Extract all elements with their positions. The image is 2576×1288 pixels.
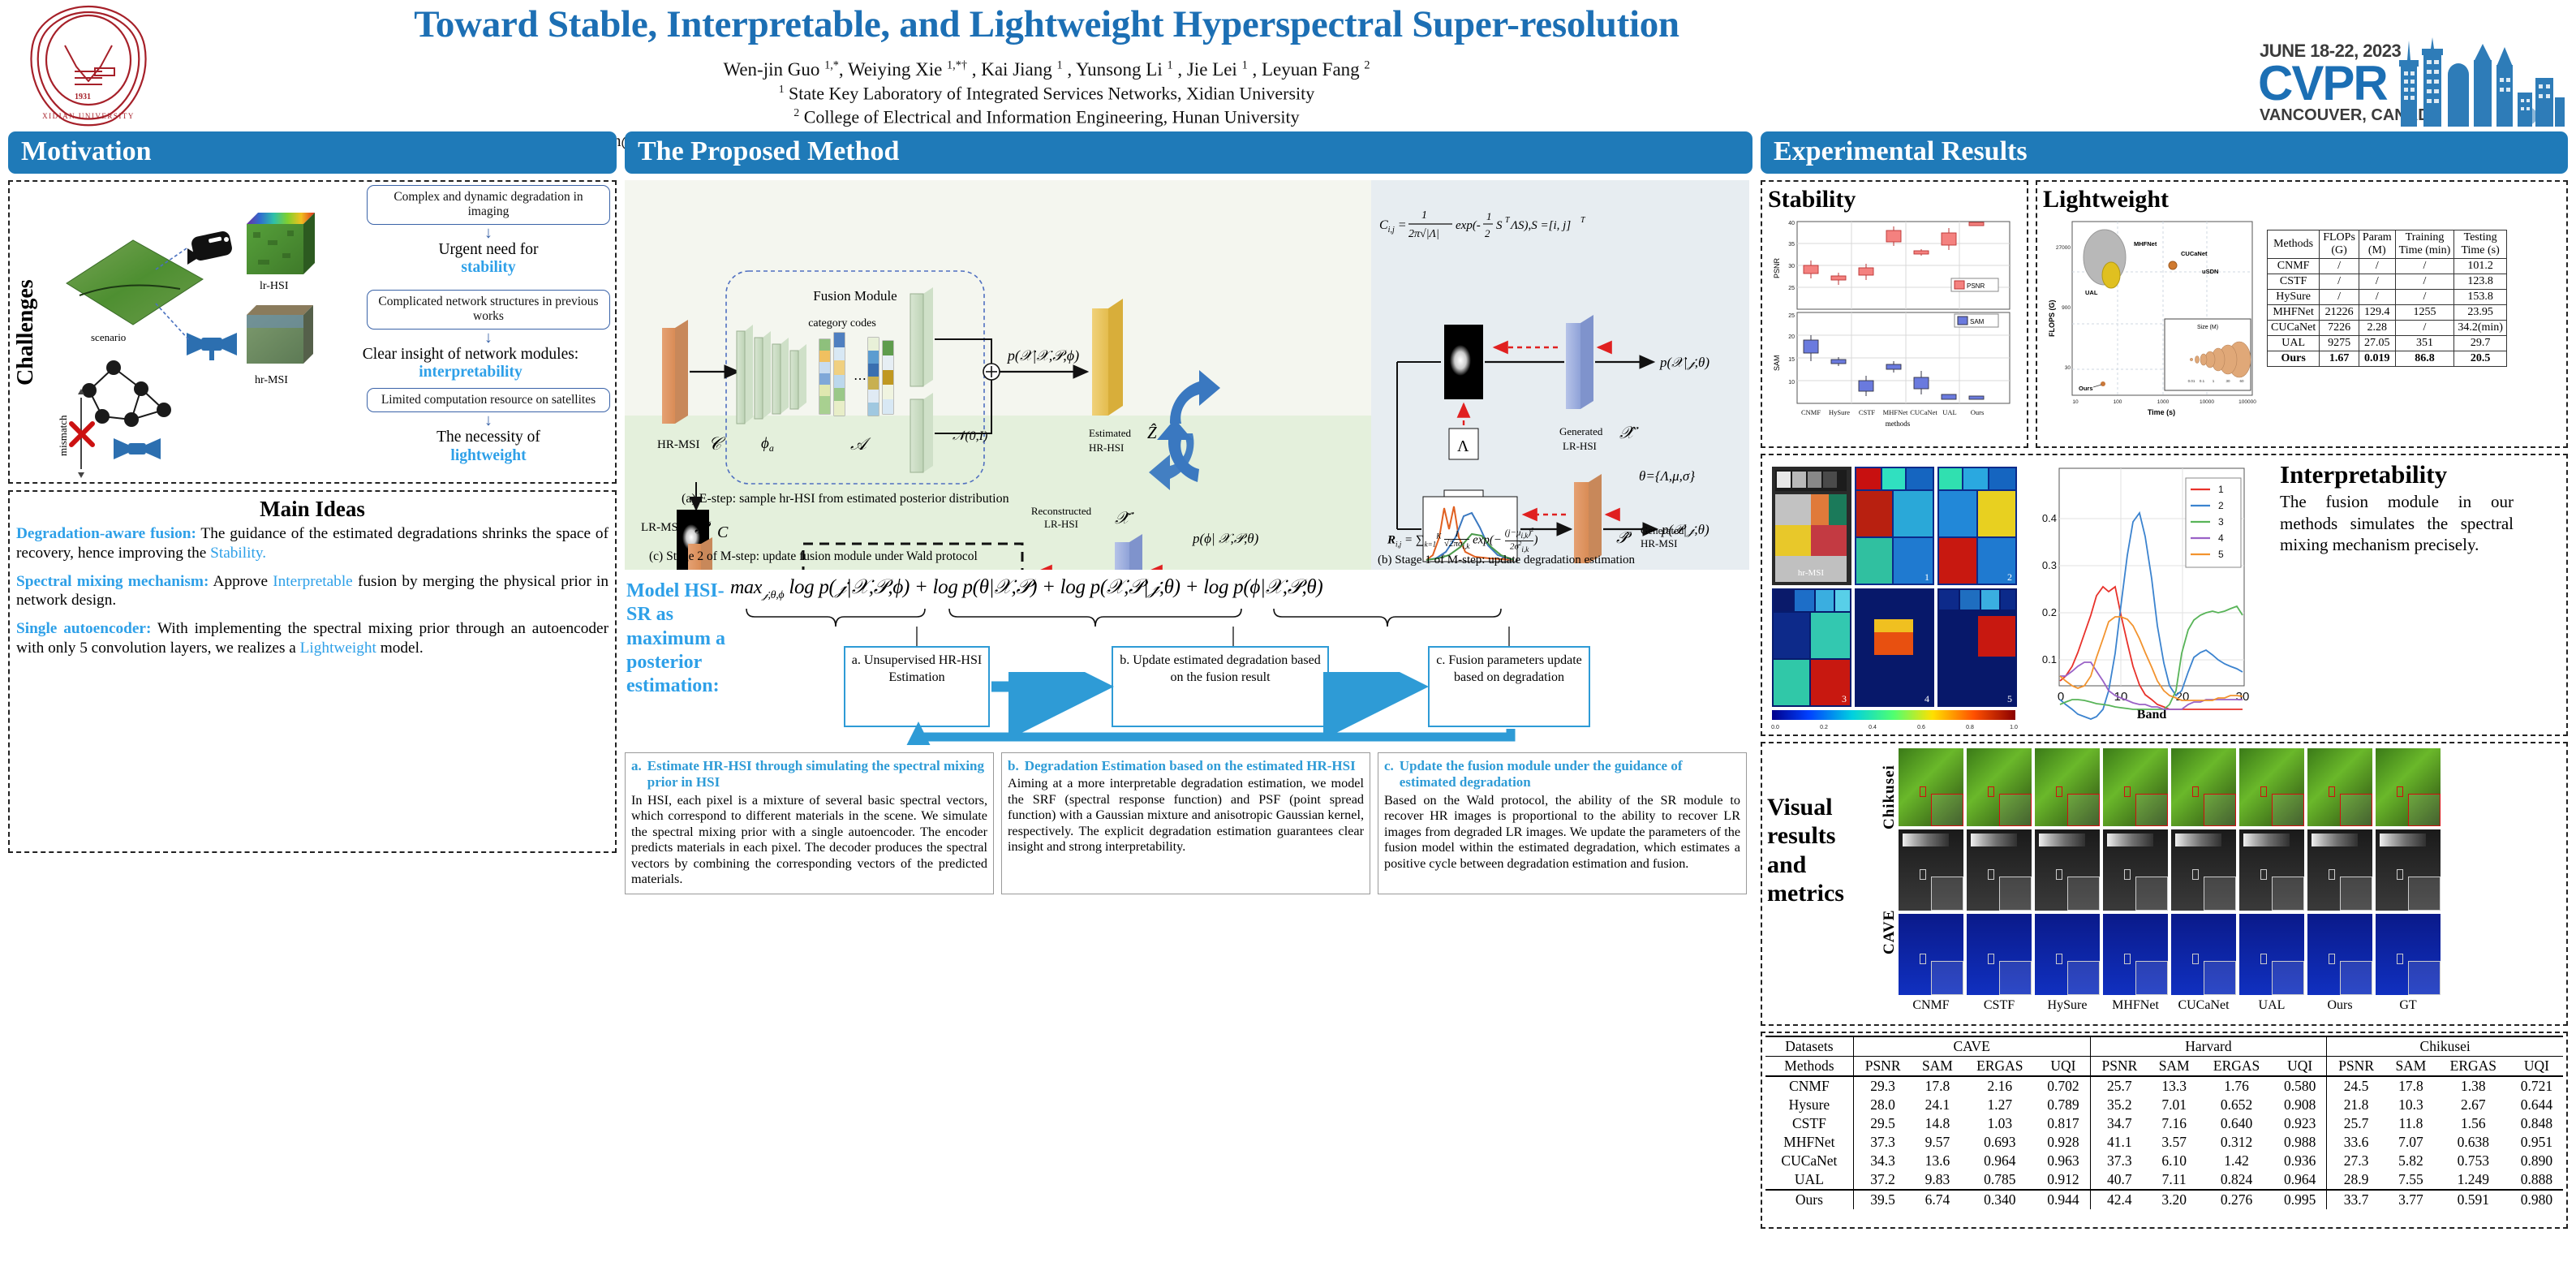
results-table-row: CUCaNet34.313.60.9640.96337.36.101.420.9…	[1765, 1152, 2563, 1170]
results-cell: 0.721	[2510, 1076, 2563, 1096]
results-cell: 33.6	[2327, 1133, 2385, 1152]
visual-results-column-labels: CNMFCSTFHySureMHFNetCUCaNetUALOursGT	[1899, 998, 2441, 1013]
lw-table-cell: 123.8	[2454, 274, 2507, 290]
roi-marker	[2260, 869, 2267, 880]
visual-result-image	[2239, 748, 2304, 826]
method-name-cell: CUCaNet	[1765, 1152, 1853, 1170]
results-cell: 0.312	[2200, 1133, 2273, 1152]
caption-plain-2: Clear insight of network modules:	[363, 346, 578, 363]
svg-text:Λ: Λ	[1457, 437, 1469, 455]
lw-table-cell: 0.019	[2359, 351, 2395, 367]
label-ual: UAL	[2085, 289, 2098, 296]
roi-marker	[1988, 869, 1994, 880]
label-mhfnet: MHFNet	[2134, 240, 2157, 248]
metric-header: ERGAS	[2436, 1057, 2510, 1077]
challenge-caption-3: The necessity of lightweight	[367, 429, 610, 464]
results-cell: 24.1	[1912, 1096, 1963, 1114]
results-cell: 0.964	[1963, 1152, 2036, 1170]
zoom-inset	[2067, 794, 2100, 826]
roi-marker	[1988, 786, 1994, 797]
svg-text:0.1: 0.1	[2042, 653, 2057, 666]
svg-text:30: 30	[2236, 690, 2250, 704]
svg-text:25: 25	[1788, 286, 1795, 291]
lw-table-cell: 153.8	[2454, 290, 2507, 305]
lw-table-cell: 20.5	[2454, 351, 2507, 367]
svg-text:1: 1	[1421, 209, 1427, 222]
model-equation-block: Model HSI-SR asmaximum aposteriorestimat…	[625, 575, 1752, 749]
results-cell: 37.2	[1853, 1170, 1912, 1190]
challenges-label: Challenges	[10, 182, 42, 484]
results-table-row: CNMF29.317.82.160.70225.713.31.760.58024…	[1765, 1076, 2563, 1096]
results-table-row: Hysure28.024.11.270.78935.27.010.6520.90…	[1765, 1096, 2563, 1114]
row-label-chikusei: Chikusei	[1881, 752, 1899, 829]
svg-text:35: 35	[1788, 242, 1795, 248]
caption-highlight-3: lightweight	[450, 447, 526, 464]
lr-msi-label: LR-MSI	[641, 521, 682, 535]
results-cell: 0.908	[2273, 1096, 2327, 1114]
lw-table-cell: 1.67	[2320, 351, 2359, 367]
zoom-inset	[1999, 794, 2032, 826]
arrow-down-icon-1: ↓	[367, 226, 610, 239]
visual-column-label: CNMF	[1899, 998, 1963, 1013]
main-ideas-panel: Main Ideas Degradation-aware fusion: The…	[8, 490, 617, 853]
visual-results-grid: CNMFCSTFHySureMHFNetCUCaNetUALOursGT	[1899, 748, 2441, 1019]
page-title: Toward Stable, Interpretable, and Lightw…	[162, 5, 1931, 45]
zoom-inset	[1931, 877, 1963, 911]
roi-marker	[2124, 786, 2131, 797]
method-box-a: a. Estimate HR-HSI through simulating th…	[625, 752, 994, 894]
results-cell: 0.644	[2510, 1096, 2563, 1114]
authors-line: Wen-jin Guo 1,*, Weiying Xie 1,*† , Kai …	[162, 58, 1931, 81]
svg-text:10: 10	[1788, 380, 1795, 386]
results-cell: 33.7	[2327, 1190, 2385, 1209]
lightweight-bubble-chart: 2700090030 FLOPS (G) 10100 1000100001000…	[2043, 215, 2260, 433]
results-cell: 17.8	[1912, 1076, 1963, 1096]
p-phi-label: p(ϕ| 𝒳,𝒫,θ)	[1193, 531, 1258, 547]
visual-results-row	[1899, 748, 2441, 826]
svg-text:0.8: 0.8	[1966, 725, 1974, 730]
lw-table-cell: 86.8	[2395, 351, 2454, 367]
method-box-b-marker: b.	[1008, 758, 1019, 774]
svg-text:CNMF: CNMF	[1801, 408, 1821, 416]
generated-label-b1: Generated	[1559, 425, 1603, 437]
caption-highlight-2: interpretability	[419, 364, 522, 381]
equation-r: Ri,j = ∑k=1K 1√2πσi,k exp(− (j−μi,k)22σ2…	[1387, 528, 1537, 554]
interpretability-panel: hr-MSI 1	[1761, 454, 2568, 736]
results-cell: 1.42	[2200, 1152, 2273, 1170]
lightweight-title: Lightweight	[2043, 186, 2561, 213]
lw-table-cell: 7226	[2320, 321, 2359, 336]
decoder-top	[910, 287, 933, 386]
roi-marker	[2192, 869, 2199, 880]
lw-table-cell: CNMF	[2268, 259, 2320, 274]
results-cell: 17.8	[2385, 1076, 2436, 1096]
lw-table-cell: /	[2395, 259, 2454, 274]
zoom-inset	[2135, 877, 2168, 911]
method-box-c: c. Update the fusion module under the gu…	[1378, 752, 1747, 894]
bubble-ual	[2102, 262, 2120, 288]
svg-text:T: T	[1505, 216, 1511, 225]
zoom-inset	[2340, 961, 2372, 995]
interpretability-title: Interpretability	[2280, 460, 2514, 489]
cvpr-logo: JUNE 18-22, 2023 CVPR VANCOUVER, CANADA	[2258, 29, 2566, 127]
svg-text:1: 1	[1486, 210, 1492, 222]
results-cell: 1.38	[2436, 1076, 2510, 1096]
stability-x-axis-label: methods	[1886, 420, 1911, 428]
svg-text:2: 2	[1485, 227, 1490, 239]
svg-text:⋯: ⋯	[854, 373, 867, 386]
stability-panel: Stability 4035 3025 PSNR	[1761, 180, 2028, 448]
visual-results-panel: Visualresultsandmetrics Chikusei CAVE CN…	[1761, 742, 2568, 1026]
svg-text:60: 60	[2239, 379, 2244, 383]
svg-text:3: 3	[2218, 516, 2224, 528]
c-label: C	[717, 523, 729, 541]
results-cell: 14.8	[1912, 1114, 1963, 1133]
encoder-layers	[737, 325, 806, 424]
method-name-cell: UAL	[1765, 1170, 1853, 1190]
colorchecker-patch	[2380, 834, 2427, 846]
table-header-row: Methods FLOPs(G) Param(M) TrainingTime (…	[2268, 230, 2507, 259]
colorbar	[1772, 710, 2015, 720]
lw-th-2: Param(M)	[2359, 230, 2395, 259]
method-box-a-body: In HSI, each pixel is a mixture of sever…	[631, 793, 987, 888]
results-cell: 28.0	[1853, 1096, 1912, 1114]
results-cell: 3.77	[2385, 1190, 2436, 1209]
main-idea-3-body-post: model.	[376, 640, 424, 657]
results-cell: 3.57	[2148, 1133, 2200, 1152]
psf-kernel-visual	[1444, 325, 1483, 399]
roi-marker	[2124, 869, 2131, 880]
svg-text:30: 30	[1788, 264, 1795, 269]
visual-result-image	[1899, 914, 1963, 995]
methods-header: Methods	[1765, 1057, 1853, 1077]
zoom-inset	[2408, 961, 2441, 995]
results-cell: 37.3	[1853, 1133, 1912, 1152]
dataset-harvard: Harvard	[2090, 1036, 2327, 1057]
roi-marker	[2192, 954, 2199, 964]
hr-msi-thumbnail: hr-MSI	[1772, 467, 1851, 585]
lw-table-cell: 29.7	[2454, 336, 2507, 351]
roi-marker	[2056, 954, 2062, 964]
main-idea-3: Single autoencoder: With implementing th…	[10, 619, 615, 657]
visual-result-image	[2307, 829, 2372, 911]
results-table-metric-header-row: MethodsPSNRSAMERGASUQIPSNRSAMERGASUQIPSN…	[1765, 1057, 2563, 1077]
abundance-map-1: 1	[1855, 467, 1934, 585]
svg-text:0.01: 0.01	[2188, 379, 2195, 383]
results-cell: 1.03	[1963, 1114, 2036, 1133]
zoom-inset	[1999, 961, 2032, 995]
method-box-b-head: Degradation Estimation based on the esti…	[1025, 758, 1356, 774]
stability-title: Stability	[1768, 186, 2021, 213]
normal-distribution-label: 𝒩(0,I)	[953, 429, 987, 443]
zoom-inset	[2067, 877, 2100, 911]
generated-lr-hsi-slab	[1566, 315, 1593, 409]
visual-column-label: MHFNet	[2103, 998, 2168, 1013]
roi-marker	[2397, 786, 2403, 797]
affiliation-2: 2 College of Electrical and Information …	[162, 106, 1931, 129]
hr-msi-symbol: 𝒞	[708, 433, 726, 454]
visual-result-image	[1967, 748, 2032, 826]
roi-marker	[2124, 954, 2131, 964]
results-table-dataset-header-row: Datasets CAVE Harvard Chikusei	[1765, 1036, 2563, 1057]
challenge-box-1: Complex and dynamic degradation in imagi…	[367, 185, 610, 225]
map-2-label: 2	[2007, 571, 2012, 583]
reconstructed-lr-hsi-slab	[1115, 534, 1142, 570]
results-cell: 0.824	[2200, 1170, 2273, 1190]
zoom-inset	[2067, 961, 2100, 995]
lw-table-cell: HySure	[2268, 290, 2320, 305]
results-cell: 28.9	[2327, 1170, 2385, 1190]
lw-table-row: MHFNet21226129.4125523.95	[2268, 305, 2507, 321]
visual-column-label: GT	[2376, 998, 2441, 1013]
lw-table-cell: CUCaNet	[2268, 321, 2320, 336]
svg-text:MHFNet: MHFNet	[1883, 408, 1908, 416]
scenario-diagram: scenario	[42, 182, 367, 482]
svg-text:900: 900	[2062, 305, 2071, 311]
lr-hsi-label: lr-HSI	[260, 280, 289, 292]
lw-table-cell: /	[2320, 274, 2359, 290]
main-idea-2-highlight: Interpretable	[273, 573, 353, 590]
results-cell: 25.7	[2090, 1076, 2148, 1096]
metric-header: PSNR	[2090, 1057, 2148, 1077]
visual-column-label: CUCaNet	[2171, 998, 2236, 1013]
metric-header: UQI	[2036, 1057, 2090, 1077]
lw-table-row: CNMF///101.2	[2268, 259, 2507, 274]
results-cell: 0.638	[2436, 1133, 2510, 1152]
roi-marker	[2329, 786, 2335, 797]
svg-text:30: 30	[2065, 365, 2071, 371]
svg-text:1.0: 1.0	[2010, 725, 2018, 730]
lr-msi-symbol: 𝒫̃	[695, 518, 707, 538]
results-cell: 0.944	[2036, 1190, 2090, 1209]
lw-th-3: TrainingTime (min)	[2395, 230, 2454, 259]
zoom-inset	[1931, 961, 1963, 995]
results-cell: 0.964	[2273, 1170, 2327, 1190]
method-box-b-body: Aiming at a more interpretable degradati…	[1008, 776, 1364, 855]
results-cell: 1.76	[2200, 1076, 2273, 1096]
visual-result-image	[1899, 748, 1963, 826]
metric-header: UQI	[2273, 1057, 2327, 1077]
estimated-label-2: HR-HSI	[1089, 442, 1124, 454]
lightweight-panel: Lightweight 2700090030 FLOPS	[2036, 180, 2568, 448]
affiliation-1: 1 State Key Laboratory of Integrated Ser…	[162, 82, 1931, 106]
roi-marker	[2397, 954, 2403, 964]
dataset-chikusei: Chikusei	[2327, 1036, 2563, 1057]
svg-text:0.0: 0.0	[1771, 725, 1779, 730]
results-cell: 5.82	[2385, 1152, 2436, 1170]
svg-text:HySure: HySure	[1829, 408, 1850, 416]
lw-table-cell: /	[2320, 259, 2359, 274]
challenges-flow: Complex and dynamic degradation in imagi…	[367, 182, 610, 484]
column-experimental-results: Experimental Results Stability 4035	[1761, 131, 2568, 1229]
lw-table-cell: /	[2359, 290, 2395, 305]
svg-text:0.4: 0.4	[2042, 512, 2057, 524]
svg-text:0.2: 0.2	[1820, 725, 1828, 730]
colorchecker-patch	[2107, 834, 2154, 846]
svg-text:T: T	[1580, 216, 1586, 225]
section-title-experimental-results: Experimental Results	[1761, 131, 2568, 174]
svg-text:0.6: 0.6	[1917, 725, 1925, 730]
map-5-label: 5	[2007, 693, 2012, 704]
step-flow-arrows	[625, 672, 1749, 745]
results-cell: 0.995	[2273, 1190, 2327, 1209]
lw-table-cell: /	[2320, 290, 2359, 305]
fusion-module-title: Fusion Module	[813, 288, 897, 304]
results-table: Datasets CAVE Harvard Chikusei MethodsPS…	[1765, 1036, 2563, 1209]
mismatch-indicator	[71, 389, 92, 478]
results-table-row: CSTF29.514.81.030.81734.77.160.6400.9232…	[1765, 1114, 2563, 1133]
visual-result-image	[2307, 914, 2372, 995]
results-table-panel: Datasets CAVE Harvard Chikusei MethodsPS…	[1761, 1032, 2568, 1229]
svg-text:20: 20	[2176, 690, 2190, 704]
main-idea-3-lead: Single autoencoder:	[16, 620, 151, 637]
results-cell: 13.3	[2148, 1076, 2200, 1096]
panel-b-caption: (b) Stage 1 of M-step: update degradatio…	[1378, 554, 1635, 566]
lw-th-0: Methods	[2268, 230, 2320, 259]
results-cell: 34.3	[1853, 1152, 1912, 1170]
colorchecker-patch	[2312, 834, 2359, 846]
bubble-cucanet	[2169, 261, 2177, 269]
zoom-inset	[2272, 877, 2304, 911]
generated-hr-msi-slab	[1574, 474, 1602, 563]
section-title-motivation: Motivation	[8, 131, 617, 174]
inset-size-label: Size (M)	[2197, 325, 2218, 330]
svg-text:0.1: 0.1	[2200, 379, 2205, 383]
zoom-inset	[2135, 794, 2168, 826]
zoom-inset	[2272, 961, 2304, 995]
lw-table-row: CSTF///123.8	[2268, 274, 2507, 290]
results-cell: 6.74	[1912, 1190, 1963, 1209]
svg-text:10000: 10000	[2200, 399, 2214, 405]
method-box-a-marker: a.	[631, 758, 642, 791]
lw-table-cell: 129.4	[2359, 305, 2395, 321]
svg-text:1000: 1000	[2157, 399, 2170, 405]
zoom-inset	[2408, 877, 2441, 911]
caption-plain-3: The necessity of	[437, 429, 540, 446]
results-cell: 35.2	[2090, 1096, 2148, 1114]
visual-result-image	[2376, 914, 2441, 995]
category-codes-label: category codes	[808, 317, 876, 330]
method-box-c-body: Based on the Wald protocol, the ability …	[1384, 793, 1740, 872]
svg-text:2: 2	[2218, 500, 2224, 511]
interpretability-body: The fusion module in our methods simulat…	[2280, 491, 2514, 555]
roi-marker	[2192, 786, 2199, 797]
visual-result-image	[2103, 748, 2168, 826]
svg-text:25: 25	[1788, 313, 1795, 319]
challenge-caption-1: Urgent need for stability	[367, 241, 610, 277]
visual-column-label: UAL	[2239, 998, 2304, 1013]
svg-text:CUCaNet: CUCaNet	[1910, 408, 1937, 416]
lw-table-row: HySure///153.8	[2268, 290, 2507, 305]
results-cell: 0.340	[1963, 1190, 2036, 1209]
equation-c: Ci,j =	[1379, 218, 1407, 235]
colorchecker-patch	[2039, 834, 2086, 846]
metric-header: ERGAS	[1963, 1057, 2036, 1077]
results-cell: 0.580	[2273, 1076, 2327, 1096]
abundance-map-4: 4	[1855, 588, 1934, 707]
dataset-cave: CAVE	[1853, 1036, 2090, 1057]
results-cell: 0.702	[2036, 1076, 2090, 1096]
visual-result-image	[2307, 748, 2372, 826]
lw-table-cell: /	[2359, 259, 2395, 274]
results-cell: 0.912	[2036, 1170, 2090, 1190]
main-idea-2-lead: Spectral mixing mechanism:	[16, 573, 209, 590]
roi-marker	[2260, 954, 2267, 964]
stability-boxplot-chart: 4035 3025 PSNR	[1768, 217, 2019, 436]
lw-table-cell: UAL	[2268, 336, 2320, 351]
visual-results-label: Visualresultsandmetrics	[1767, 748, 1881, 1019]
roi-marker	[2056, 869, 2062, 880]
results-cell: 7.07	[2385, 1133, 2436, 1152]
results-cell: 41.1	[2090, 1133, 2148, 1152]
reconstructed-lr-hsi-label: ReconstructedLR-HSI	[1013, 505, 1110, 530]
panel-a-caption: (a) E-step: sample hr-HSI from estimated…	[682, 492, 1009, 506]
metric-header: SAM	[1912, 1057, 1963, 1077]
results-cell: 1.56	[2436, 1114, 2510, 1133]
x-tilde-symbol: 𝒳̃	[1115, 508, 1129, 528]
main-ideas-title: Main Ideas	[10, 497, 615, 522]
lw-th-4: TestingTime (s)	[2454, 230, 2507, 259]
roi-marker	[2056, 786, 2062, 797]
em-cycle-arrows	[1149, 370, 1220, 490]
main-idea-1: Degradation-aware fusion: The guidance o…	[10, 524, 615, 562]
lw-table-cell: CSTF	[2268, 274, 2320, 290]
column-proposed-method: The Proposed Method	[625, 131, 1752, 894]
section-title-proposed-method: The Proposed Method	[625, 131, 1752, 174]
equation-c-fraction: 1 2π√|Λ| exp(- 1 2 S T ΛS),S =[i, j] T	[1408, 209, 1586, 240]
zoom-inset	[1999, 877, 2032, 911]
roi-marker	[1920, 786, 1926, 797]
label-cucanet: CUCaNet	[2181, 250, 2208, 257]
svg-text:100000: 100000	[2238, 399, 2256, 405]
lw-table-cell: 9275	[2320, 336, 2359, 351]
hr-msi-input-label: HR-MSI	[657, 438, 700, 451]
abundance-maps: hr-MSI 1	[1767, 460, 2027, 730]
lw-table-row: CUCaNet72262.28/34.2(min)	[2268, 321, 2507, 336]
metric-header: PSNR	[2327, 1057, 2385, 1077]
results-cell: 0.591	[2436, 1190, 2510, 1209]
metric-header: UQI	[2510, 1057, 2563, 1077]
visual-column-label: Ours	[2307, 998, 2372, 1013]
generated-label-b2: LR-HSI	[1563, 440, 1597, 452]
lw-table-cell: /	[2395, 274, 2454, 290]
roi-marker	[1988, 954, 1994, 964]
svg-text:CSTF: CSTF	[1859, 408, 1876, 416]
results-cell: 0.951	[2510, 1133, 2563, 1152]
results-cell: 6.10	[2148, 1152, 2200, 1170]
arrow-down-icon-3: ↓	[367, 414, 610, 427]
decoder-bottom	[910, 393, 933, 472]
scenario-label: scenario	[91, 331, 126, 343]
visual-result-image	[2376, 748, 2441, 826]
results-cell: 40.7	[2090, 1170, 2148, 1190]
lightweight-y-axis-label: FLOPS (G)	[2048, 300, 2056, 338]
lw-th-1: FLOPs(G)	[2320, 230, 2359, 259]
estimated-label-1: Estimated	[1089, 427, 1131, 439]
script-a-label: 𝒜	[850, 434, 871, 454]
svg-text:ΛS),S =[i, j]: ΛS),S =[i, j]	[1509, 219, 1571, 232]
svg-text:PSNR: PSNR	[1773, 258, 1781, 279]
metric-header: ERGAS	[2200, 1057, 2273, 1077]
method-name-cell: CNMF	[1765, 1076, 1853, 1096]
main-idea-1-lead: Degradation-aware fusion:	[16, 525, 196, 542]
lightweight-table: Methods FLOPs(G) Param(M) TrainingTime (…	[2267, 230, 2507, 367]
cvpr-name: CVPR	[2258, 55, 2387, 111]
hr-msi-map-label: hr-MSI	[1798, 568, 1825, 578]
metric-header: SAM	[2148, 1057, 2200, 1077]
svg-text:4: 4	[2218, 532, 2224, 544]
method-name-cell: Ours	[1765, 1190, 1853, 1209]
